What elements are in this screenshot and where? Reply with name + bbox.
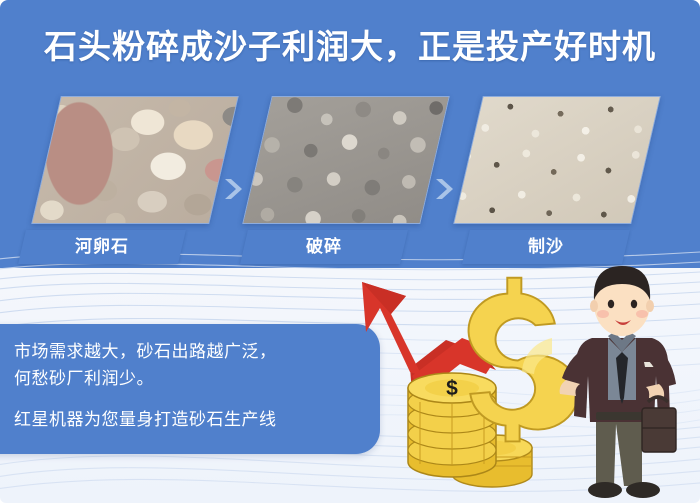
copy-line-3: 红星机器为您量身打造砂石生产线 bbox=[14, 406, 356, 433]
process-photo-sand-making bbox=[453, 96, 661, 224]
river-pebbles-photo bbox=[31, 96, 239, 224]
marketing-copy-block: 市场需求越大，砂石出路越广泛， 何愁砂厂利润少。 红星机器为您量身打造砂石生产线 bbox=[0, 324, 380, 454]
profit-illustration: $ $ bbox=[360, 252, 700, 503]
shoe-right bbox=[626, 482, 660, 498]
eye-left bbox=[608, 300, 614, 308]
chevron-right-icon bbox=[432, 176, 458, 202]
shoe-left bbox=[588, 482, 622, 498]
chevron-right-icon bbox=[221, 176, 247, 202]
gold-coin-stack-icon: $ bbox=[408, 373, 496, 477]
process-label-river-pebbles: 河卵石 bbox=[18, 230, 186, 264]
manufactured-sand-photo bbox=[453, 96, 661, 224]
process-photo-river-pebbles bbox=[31, 96, 239, 224]
copy-line-2: 何愁砂厂利润少。 bbox=[14, 365, 356, 392]
svg-text:$: $ bbox=[446, 377, 458, 400]
eye-right bbox=[631, 300, 637, 308]
dollar-sign-icon bbox=[469, 278, 579, 442]
banner-title: 石头粉碎成沙子利润大，正是投产好时机 bbox=[0, 26, 700, 68]
process-photo-crushing bbox=[242, 96, 450, 224]
crushed-gravel-photo bbox=[242, 96, 450, 224]
copy-line-1: 市场需求越大，砂石出路越广泛， bbox=[14, 338, 356, 365]
businessman-figure bbox=[560, 266, 676, 498]
belt bbox=[596, 412, 648, 420]
promo-banner: 石头粉碎成沙子利润大，正是投产好时机 河卵石 破碎 制沙 市场需求越大，砂石出路… bbox=[0, 0, 700, 503]
process-label-text: 河卵石 bbox=[22, 230, 182, 264]
